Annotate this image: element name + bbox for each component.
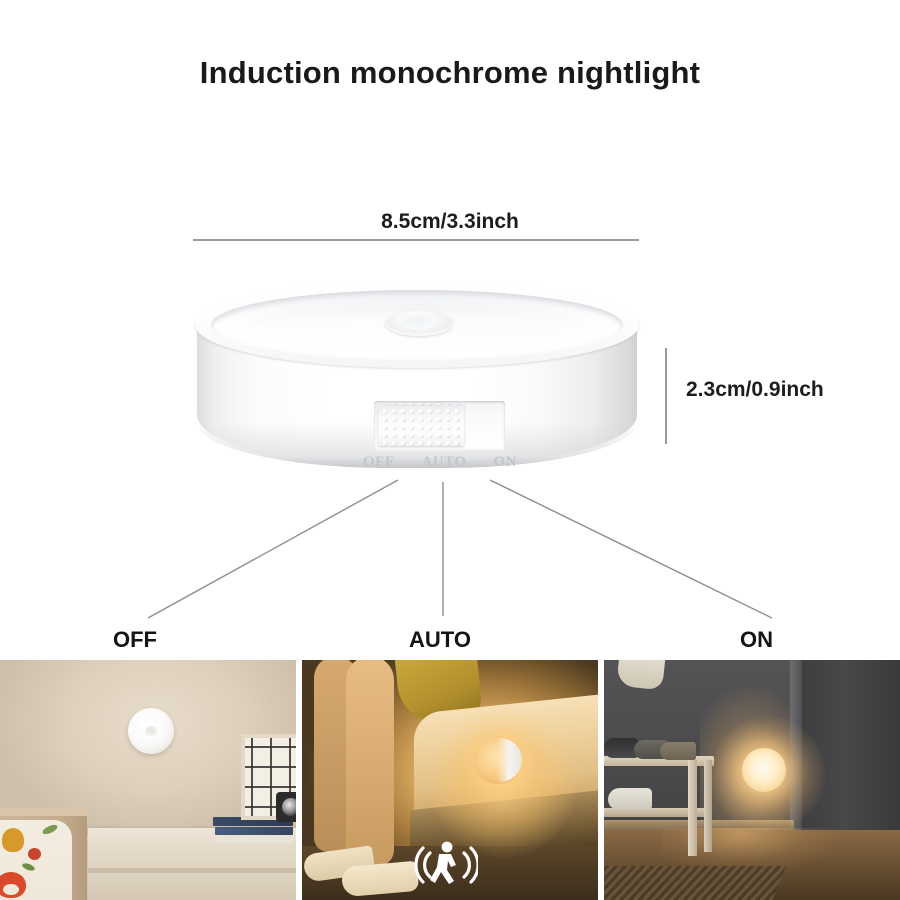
leader-line-off	[148, 480, 398, 618]
motion-sensor-lens	[401, 315, 437, 329]
book-middle	[215, 827, 293, 835]
nightstand-edge	[88, 868, 296, 873]
height-dimension-label: 2.3cm/0.9inch	[686, 378, 824, 402]
pillow-leaf-motif-a	[41, 823, 58, 836]
photo-bedroom-scene	[0, 660, 296, 900]
callout-label-on: ON	[740, 627, 773, 653]
pillow-mouse-motif	[28, 848, 41, 860]
shoe-sandal	[604, 738, 638, 758]
pillow-fox-motif	[0, 872, 26, 898]
woven-rug	[604, 866, 786, 900]
pillow-leaf-motif-b	[21, 862, 35, 872]
height-dimension-rule	[665, 348, 667, 444]
page-title: Induction monochrome nightlight	[0, 55, 900, 91]
person-leg-front	[346, 660, 394, 866]
mode-switch-labels: OFF AUTO ON	[363, 454, 517, 471]
toy-camera	[276, 792, 296, 822]
pillow-monkey-motif	[2, 828, 24, 852]
photo-entryway-night-scene	[604, 660, 900, 900]
entryway-nightlight	[742, 748, 786, 792]
mode-switch-slider[interactable]	[378, 404, 464, 446]
width-dimension-label: 8.5cm/3.3inch	[0, 210, 900, 234]
leader-line-on	[490, 480, 772, 618]
photo-bedside-motion-scene	[302, 660, 598, 900]
switch-label-off: OFF	[363, 454, 395, 471]
shoe-rack-leg-front	[688, 760, 697, 856]
patterned-pillow	[0, 820, 72, 900]
product-image: OFF AUTO ON	[195, 282, 639, 482]
shoe-sneaker	[608, 788, 652, 810]
wall-mounted-nightlight	[128, 708, 174, 754]
product-infographic: Induction monochrome nightlight 8.5cm/3.…	[0, 0, 900, 900]
shoe-loafer-right	[660, 742, 696, 760]
bed-headboard-top	[0, 808, 87, 816]
lifestyle-photo-strip	[0, 660, 900, 900]
switch-label-on: ON	[493, 454, 517, 471]
callout-label-off: OFF	[113, 627, 157, 653]
callout-label-auto: AUTO	[409, 627, 471, 653]
motion-sensor-icon	[414, 838, 478, 890]
width-dimension-rule	[193, 239, 639, 241]
switch-label-auto: AUTO	[421, 454, 466, 471]
book-bottom	[214, 836, 293, 843]
